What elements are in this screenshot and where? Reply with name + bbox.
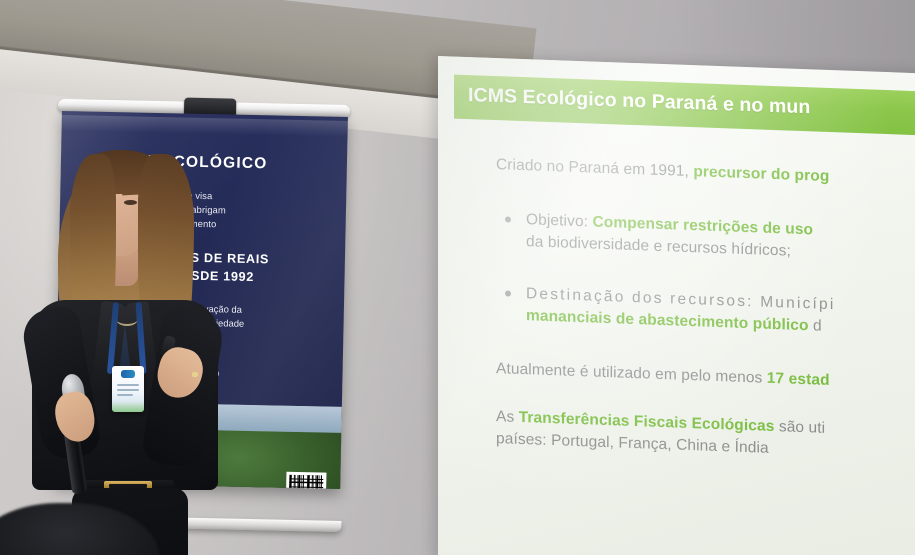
badge-text-line [117,394,133,396]
bullet-dot-icon [505,290,511,296]
speaker-necklace [116,312,138,326]
slide-title: ICMS Ecológico no Paraná e no mun [468,84,810,119]
speaker-eye-right [124,200,137,205]
qr-code[interactable] [286,472,327,489]
intro-text-highlight: precursor do prog [693,163,829,185]
bullet-dot-icon [505,216,511,222]
destinacao-tail: d [813,317,822,334]
qr-code-pattern [289,475,324,489]
speaker-figure [10,150,220,555]
speaker-ring [192,372,198,377]
badge-text-line [117,384,139,386]
transferencias-suffix: são uti [774,418,825,437]
transferencias-prefix: As [496,408,519,426]
presentation-scene: S ECOLÓGICO de política pública que visa… [0,0,915,555]
badge-logo-icon [121,370,135,378]
intro-text-plain: Criado no Paraná em 1991, [496,156,693,180]
slide-title-bar: ICMS Ecológico no Paraná e no mun [454,75,915,137]
slide-body: Criado no Paraná em 1991, precursor do p… [496,154,915,467]
objetivo-label: Objetivo: [526,211,592,230]
speaker-id-badge [112,366,144,412]
atualmente-highlight: 17 estad [767,370,830,389]
badge-text-line [117,389,139,391]
projection-screen: ICMS Ecológico no Paraná e no mun Criado… [438,56,915,555]
